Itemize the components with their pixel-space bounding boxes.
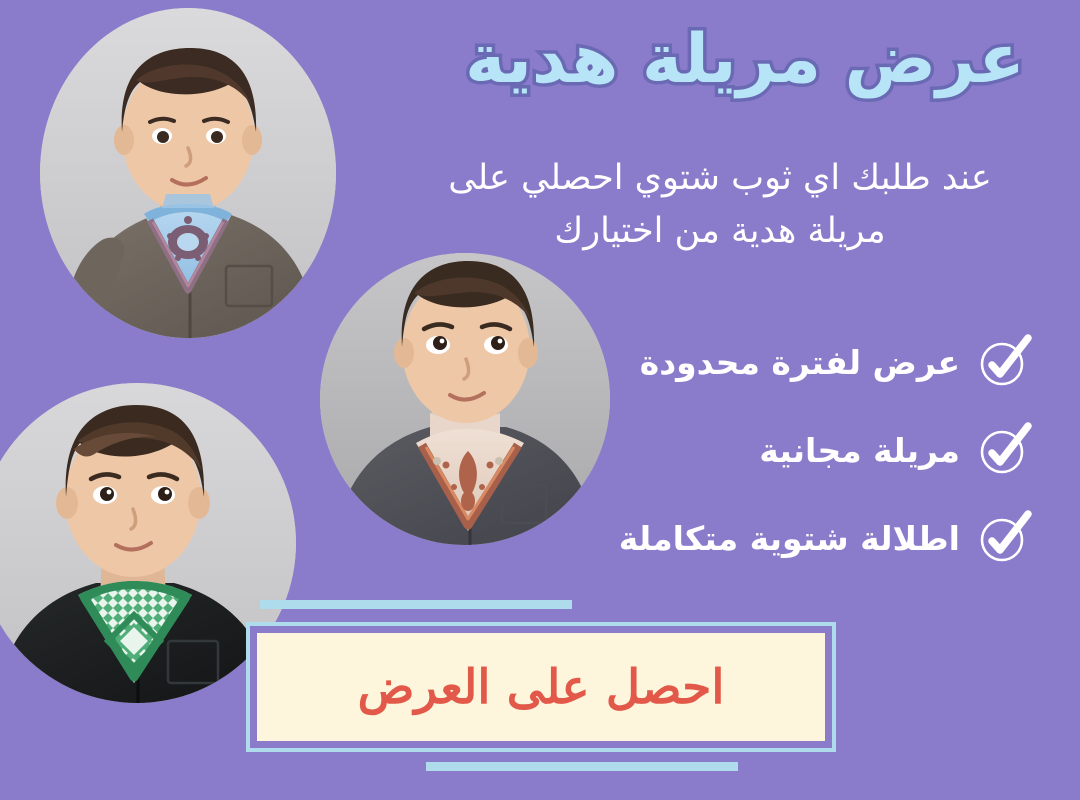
check-circle-icon bbox=[978, 336, 1030, 388]
check-circle-icon bbox=[978, 512, 1030, 564]
subtitle: عند طلبك اي ثوب شتوي احصلي على مريلة هدي… bbox=[420, 152, 1020, 258]
cta-frame: احصل على العرض bbox=[246, 622, 836, 752]
benefits-list: عرض لفترة محدودة مريلة مجانية اطلالة شتو… bbox=[560, 318, 1030, 582]
cta-button-label: احصل على العرض bbox=[358, 664, 725, 711]
subtitle-line-2: مريلة هدية من اختيارك bbox=[420, 205, 1020, 258]
list-item-label: عرض لفترة محدودة bbox=[640, 343, 960, 382]
list-item-label: اطلالة شتوية متكاملة bbox=[619, 519, 960, 558]
list-item: مريلة مجانية bbox=[560, 406, 1030, 494]
cta-section: احصل على العرض bbox=[246, 596, 838, 786]
photo-illustration-blue-bib bbox=[40, 8, 336, 338]
check-circle-icon bbox=[978, 424, 1030, 476]
cta-button[interactable]: احصل على العرض bbox=[257, 633, 825, 741]
list-item: عرض لفترة محدودة bbox=[560, 318, 1030, 406]
decorative-bar-bottom bbox=[426, 762, 738, 771]
promo-poster: عرض مريلة هدية عند طلبك اي ثوب شتوي احصل… bbox=[0, 0, 1080, 800]
decorative-bar-top bbox=[260, 600, 572, 609]
page-title: عرض مريلة هدية bbox=[430, 24, 1060, 95]
product-photo-top-left bbox=[40, 8, 336, 338]
list-item: اطلالة شتوية متكاملة bbox=[560, 494, 1030, 582]
list-item-label: مريلة مجانية bbox=[759, 431, 960, 470]
subtitle-line-1: عند طلبك اي ثوب شتوي احصلي على bbox=[420, 152, 1020, 205]
